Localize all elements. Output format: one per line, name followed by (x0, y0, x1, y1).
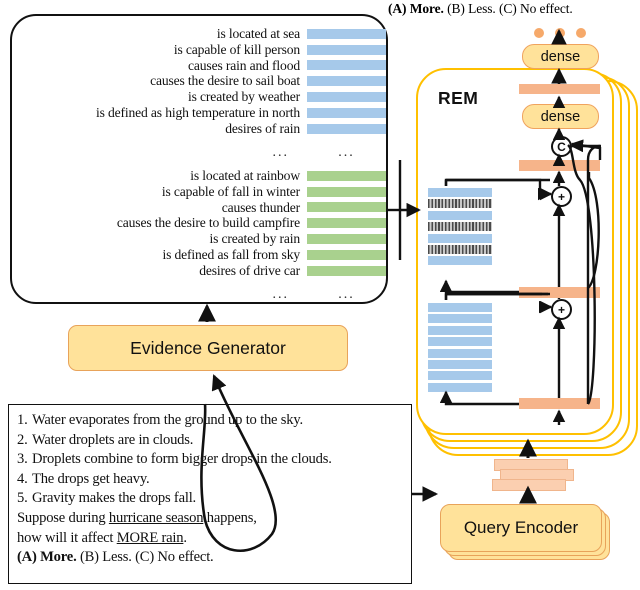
evidence-green-text-2: causes thunder (222, 200, 307, 216)
step-number: 4. (17, 470, 32, 490)
evidence-row: desires of rain (12, 121, 386, 137)
evidence-ellipsis-bottom: ...... (12, 288, 386, 302)
evidence-green-score-bar-4 (307, 234, 386, 244)
evidence-ellipsis-middle: ...... (12, 146, 386, 160)
memory-top-row-0 (428, 188, 492, 197)
evidence-green-text-3: causes the desire to build campfire (117, 215, 307, 231)
evidence-blue-score-bar-0 (307, 29, 386, 39)
evidence-row: is capable of kill person (12, 42, 386, 58)
memory-top-row-2 (428, 211, 492, 220)
q1-pre: Suppose during (17, 510, 109, 526)
memory-bottom-row-7 (428, 383, 492, 392)
ellipsis-text: ... (273, 145, 308, 161)
output-dot-2 (576, 28, 586, 38)
query-embedding-bar-3 (492, 479, 566, 491)
memory-bottom-row-5 (428, 360, 492, 369)
passage-step-2: 2.Water droplets are in clouds. (17, 431, 405, 451)
step-number: 5. (17, 489, 32, 509)
q1-underline: hurricane season (109, 510, 203, 526)
passage-steps: 1.Water evaporates from the ground up to… (17, 411, 405, 509)
salmon-bar-lower-mid (519, 287, 600, 298)
memory-bottom-row-6 (428, 371, 492, 380)
memory-bottom-row-1 (428, 314, 492, 323)
step-text: Gravity makes the drops fall. (32, 490, 196, 506)
ellipsis-bars: ... (307, 145, 386, 161)
evidence-green-text-1: is capable of fall in winter (162, 184, 307, 200)
passage-step-5: 5.Gravity makes the drops fall. (17, 489, 405, 509)
top-answer-rest: (B) Less. (C) No effect. (444, 1, 573, 16)
evidence-row: is created by rain (12, 231, 386, 247)
dense-top-label: dense (541, 49, 581, 65)
evidence-blue-text-4: is created by weather (188, 89, 307, 105)
memory-bottom-row-0 (428, 303, 492, 312)
passage-step-4: 4.The drops get heavy. (17, 470, 405, 490)
evidence-blue-text-3: causes the desire to sail boat (150, 73, 307, 89)
evidence-row: is located at sea (12, 26, 386, 42)
salmon-bar-bottom (519, 398, 600, 409)
memory-block-top (428, 188, 492, 268)
memory-top-row-1 (428, 199, 492, 208)
top-answer-correct: (A) More. (388, 1, 444, 16)
memory-top-row-3 (428, 222, 492, 231)
evidence-row: is capable of fall in winter (12, 184, 386, 200)
step-number: 2. (17, 431, 32, 451)
memory-bottom-row-2 (428, 326, 492, 335)
evidence-blue-score-bar-3 (307, 76, 386, 86)
memory-top-row-6 (428, 256, 492, 265)
evidence-green-score-bar-1 (307, 187, 386, 197)
dense-layer-inner[interactable]: dense (522, 104, 599, 129)
evidence-row: is created by weather (12, 89, 386, 105)
q2-post: . (183, 530, 186, 546)
memory-block-bottom (428, 303, 492, 394)
query-encoder-label: Query Encoder (464, 518, 578, 538)
evidence-row: desires of drive car (12, 263, 386, 279)
evidence-blue-text-5: is defined as high temperature in north (96, 105, 307, 121)
memory-top-row-5 (428, 245, 492, 254)
passage-step-3: 3.Droplets combine to form bigger drops … (17, 450, 405, 470)
evidence-row: causes the desire to build campfire (12, 215, 386, 231)
step-text: The drops get heavy. (32, 471, 149, 487)
q2-pre: how will it affect (17, 530, 117, 546)
concat-symbol: C (557, 141, 566, 153)
answer-correct: (A) More. (17, 549, 77, 565)
ellipsis-bars: ... (307, 287, 386, 303)
evidence-blue-score-bar-6 (307, 124, 386, 134)
evidence-blue-text-2: causes rain and flood (188, 58, 307, 74)
output-dot-0 (534, 28, 544, 38)
evidence-blue-text-1: is capable of kill person (174, 42, 307, 58)
step-text: Water evaporates from the ground up to t… (32, 412, 303, 428)
evidence-blue-text-6: desires of rain (225, 121, 307, 137)
evidence-blue-score-bar-1 (307, 45, 386, 55)
evidence-group-blue: is located at seais capable of kill pers… (12, 26, 386, 137)
memory-bottom-row-3 (428, 337, 492, 346)
evidence-blue-text-0: is located at sea (217, 26, 307, 42)
passage-box: 1.Water evaporates from the ground up to… (8, 404, 412, 584)
add-operator-icon-upper: + (551, 186, 572, 207)
evidence-green-score-bar-5 (307, 250, 386, 260)
step-number: 3. (17, 450, 32, 470)
evidence-blue-score-bar-2 (307, 60, 386, 70)
q1-post: happens, (203, 510, 256, 526)
evidence-row: causes rain and flood (12, 58, 386, 74)
evidence-green-score-bar-2 (307, 202, 386, 212)
q2-underline: MORE rain (117, 530, 184, 546)
evidence-generator-label: Evidence Generator (130, 338, 286, 359)
evidence-panel: is located at seais capable of kill pers… (10, 14, 388, 304)
evidence-green-text-0: is located at rainbow (190, 168, 307, 184)
evidence-generator-box[interactable]: Evidence Generator (68, 325, 348, 371)
dense-layer-output[interactable]: dense (522, 44, 599, 69)
query-encoder-box[interactable]: Query Encoder (440, 504, 602, 552)
step-text: Droplets combine to form bigger drops in… (32, 451, 332, 467)
evidence-blue-score-bar-4 (307, 92, 386, 102)
evidence-green-text-6: desires of drive car (199, 263, 307, 279)
add-operator-icon-lower: + (551, 299, 572, 320)
evidence-row: causes thunder (12, 200, 386, 216)
output-dot-1 (555, 28, 565, 38)
answer-rest: (B) Less. (C) No effect. (77, 549, 214, 565)
top-answer-line: (A) More. (B) Less. (C) No effect. (388, 1, 638, 17)
add-symbol-upper: + (558, 191, 565, 203)
rem-label: REM (438, 88, 478, 109)
passage-step-1: 1.Water evaporates from the ground up to… (17, 411, 405, 431)
passage-question-line-1: Suppose during hurricane season happens, (17, 509, 405, 529)
evidence-green-score-bar-3 (307, 218, 386, 228)
evidence-row: is defined as fall from sky (12, 247, 386, 263)
evidence-row: is located at rainbow (12, 168, 386, 184)
evidence-row: causes the desire to sail boat (12, 73, 386, 89)
passage-question-line-2: how will it affect MORE rain. (17, 529, 405, 549)
passage-answer-options: (A) More. (B) Less. (C) No effect. (17, 548, 405, 568)
ellipsis-text: ... (273, 287, 308, 303)
evidence-group-green: is located at rainbowis capable of fall … (12, 168, 386, 279)
salmon-bar-upper-mid (519, 160, 600, 171)
dense-inner-label: dense (541, 109, 581, 125)
add-symbol-lower: + (558, 304, 565, 316)
step-text: Water droplets are in clouds. (32, 432, 193, 448)
evidence-green-score-bar-6 (307, 266, 386, 276)
salmon-bar-top (519, 84, 600, 94)
output-dots (534, 28, 586, 39)
evidence-blue-score-bar-5 (307, 108, 386, 118)
evidence-green-text-4: is created by rain (209, 231, 307, 247)
step-number: 1. (17, 411, 32, 431)
evidence-green-text-5: is defined as fall from sky (162, 247, 307, 263)
concat-operator-icon: C (551, 136, 572, 157)
memory-bottom-row-4 (428, 349, 492, 358)
evidence-green-score-bar-0 (307, 171, 386, 181)
evidence-row: is defined as high temperature in north (12, 105, 386, 121)
memory-top-row-4 (428, 234, 492, 243)
